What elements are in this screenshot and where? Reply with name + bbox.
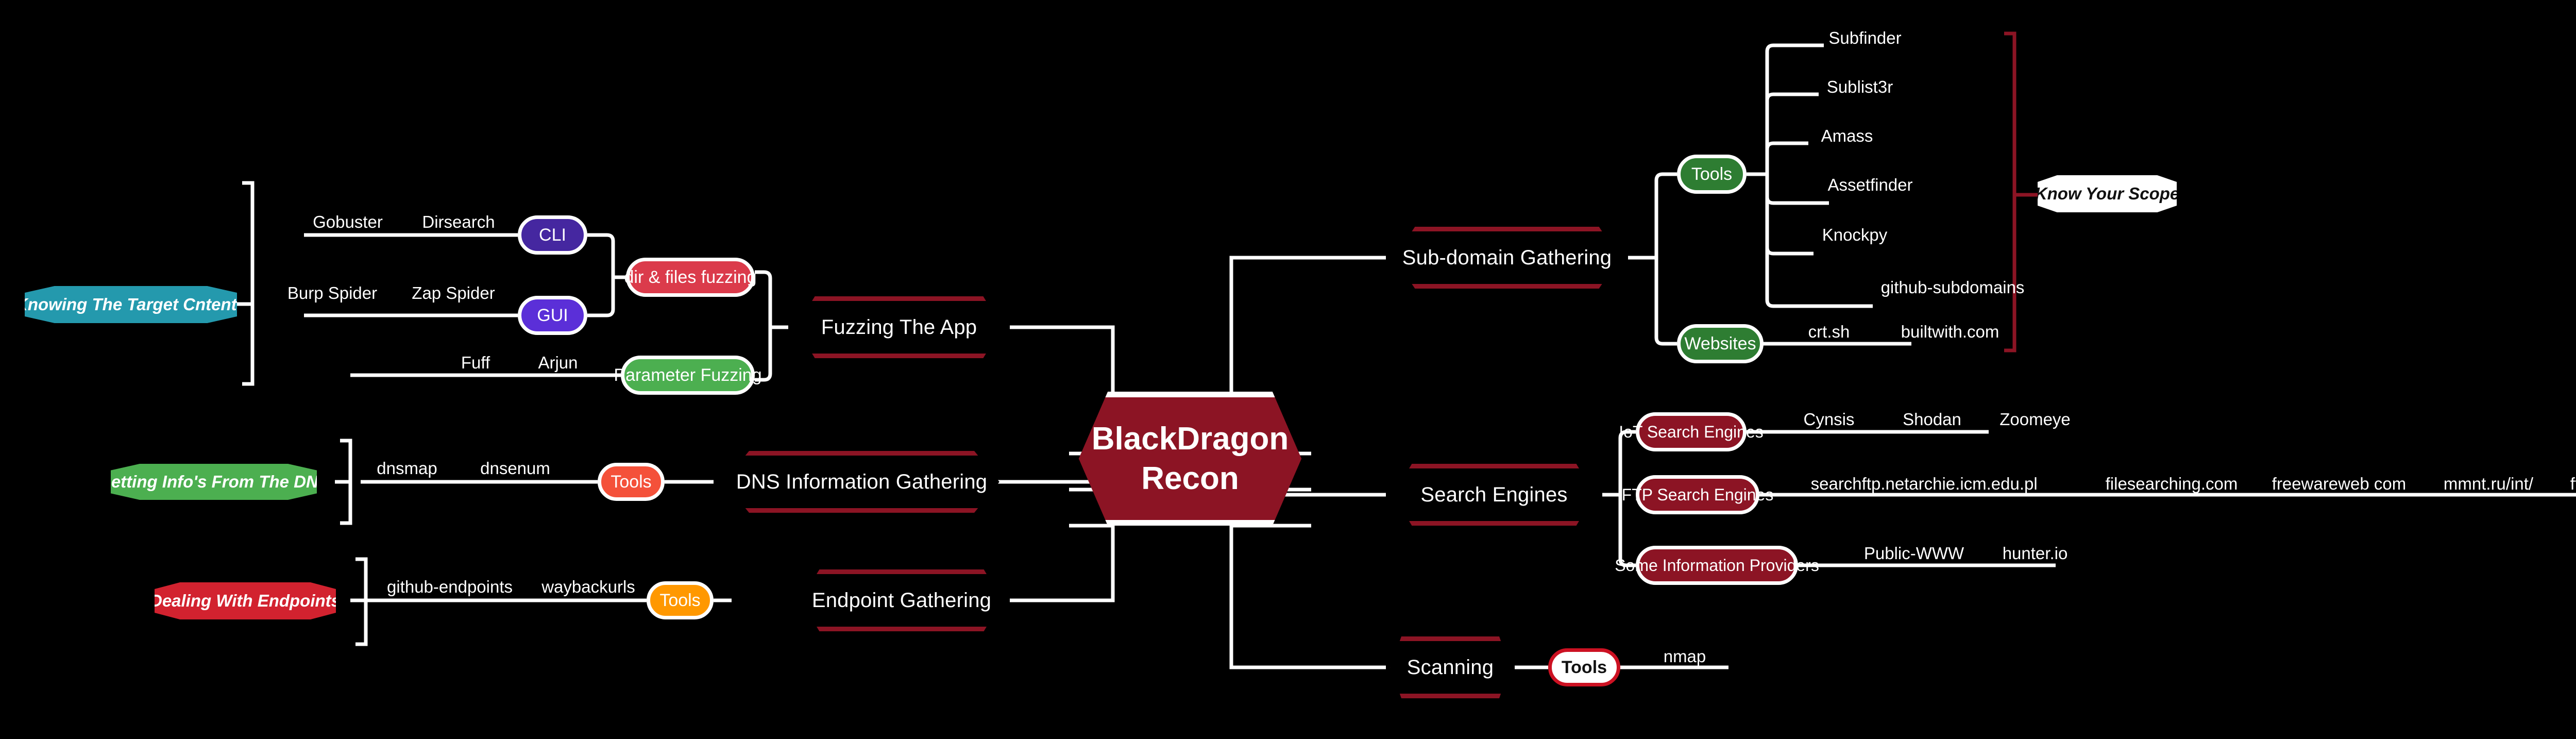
branch-endpoint-gathering[interactable]: Endpoint Gathering — [793, 569, 1010, 631]
leaf-zap-spider: Zap Spider — [412, 283, 495, 303]
leaf-burp-spider: Burp Spider — [287, 283, 377, 303]
dns-tools-node[interactable]: Tools — [598, 463, 665, 501]
parameter-fuzzing-node[interactable]: Parameter Fuzzing — [621, 356, 755, 395]
callout-knowing-target-contents: Knowing The Target Cntents — [25, 286, 237, 323]
leaf-waybackurls: waybackurls — [541, 577, 635, 597]
leaf-amass: Amass — [1821, 126, 1873, 146]
iot-search-engines-node[interactable]: IoT Search Engines — [1636, 412, 1747, 451]
information-providers-node[interactable]: Some Information Providers — [1636, 546, 1798, 585]
leaf-github-subdomains: github-subdomains — [1881, 278, 2025, 297]
leaf-knockpy: Knockpy — [1822, 225, 1888, 245]
callout-know-your-scope: Know Your Scope — [2038, 175, 2177, 212]
leaf-dnsenum: dnsenum — [480, 459, 550, 478]
leaf-public-www: Public-WWW — [1864, 544, 1964, 563]
leaf-mmnt: mmnt.ru/int/ — [2444, 474, 2533, 494]
leaf-fuff: Fuff — [461, 353, 490, 373]
leaf-sublist3r: Sublist3r — [1827, 77, 1893, 97]
leaf-nmap: nmap — [1664, 647, 1706, 666]
leaf-archie: archie.icm.edu.pl — [1909, 474, 2037, 494]
leaf-gobuster: Gobuster — [313, 212, 383, 232]
leaf-zoomeye: Zoomeye — [1999, 410, 2071, 429]
branch-scanning[interactable]: Scanning — [1386, 636, 1515, 698]
mindmap-canvas: BlackDragon Recon Sub-domain Gathering T… — [0, 0, 2576, 739]
branch-search-engines[interactable]: Search Engines — [1386, 464, 1602, 526]
connector-lines — [0, 0, 2576, 739]
leaf-dnsmap: dnsmap — [377, 459, 437, 478]
leaf-cynsis: Cynsis — [1803, 410, 1854, 429]
leaf-assetfinder: Assetfinder — [1827, 175, 1912, 195]
central-node[interactable]: BlackDragon Recon — [1069, 392, 1311, 526]
leaf-crt-sh: crt.sh — [1808, 322, 1850, 342]
leaf-subfinder: Subfinder — [1828, 28, 1901, 48]
central-node-line2: Recon — [1141, 459, 1239, 499]
cli-node[interactable]: CLI — [518, 215, 587, 255]
gui-node[interactable]: GUI — [518, 296, 587, 335]
leaf-github-endpoints: github-endpoints — [387, 577, 513, 597]
leaf-hunter-io: hunter.io — [2003, 544, 2068, 563]
central-node-line1: BlackDragon — [1092, 419, 1289, 459]
leaf-builtwith: builtwith.com — [1901, 322, 1999, 342]
callout-dealing-with-endpoints: Dealing With Endpoints — [155, 582, 336, 619]
branch-dns-information-gathering[interactable]: DNS Information Gathering — [714, 451, 1010, 513]
dir-files-fuzzing-node[interactable]: dir & files fuzzing — [626, 258, 755, 297]
leaf-searchftp: searchftp.net — [1811, 474, 1909, 494]
subdomain-websites-node[interactable]: Websites — [1677, 324, 1764, 363]
subdomain-tools-node[interactable]: Tools — [1677, 155, 1747, 194]
callout-getting-info-dns: Getting Info's From The DNS — [111, 464, 317, 500]
leaf-filesearching: filesearching.com — [2106, 474, 2238, 494]
leaf-freewareweb: freewareweb com — [2272, 474, 2406, 494]
ftp-search-engines-node[interactable]: FTP Search Engines — [1636, 475, 1759, 514]
leaf-arjun: Arjun — [538, 353, 578, 373]
endpoint-tools-node[interactable]: Tools — [647, 581, 714, 619]
branch-subdomain-gathering[interactable]: Sub-domain Gathering — [1386, 227, 1628, 289]
leaf-dirsearch: Dirsearch — [422, 212, 495, 232]
leaf-shodan: Shodan — [1903, 410, 1961, 429]
branch-fuzzing-the-app[interactable]: Fuzzing The App — [788, 296, 1010, 358]
scanning-tools-node[interactable]: Tools — [1548, 648, 1620, 686]
leaf-ftp-sites: ftp-sites.org — [2570, 474, 2576, 494]
